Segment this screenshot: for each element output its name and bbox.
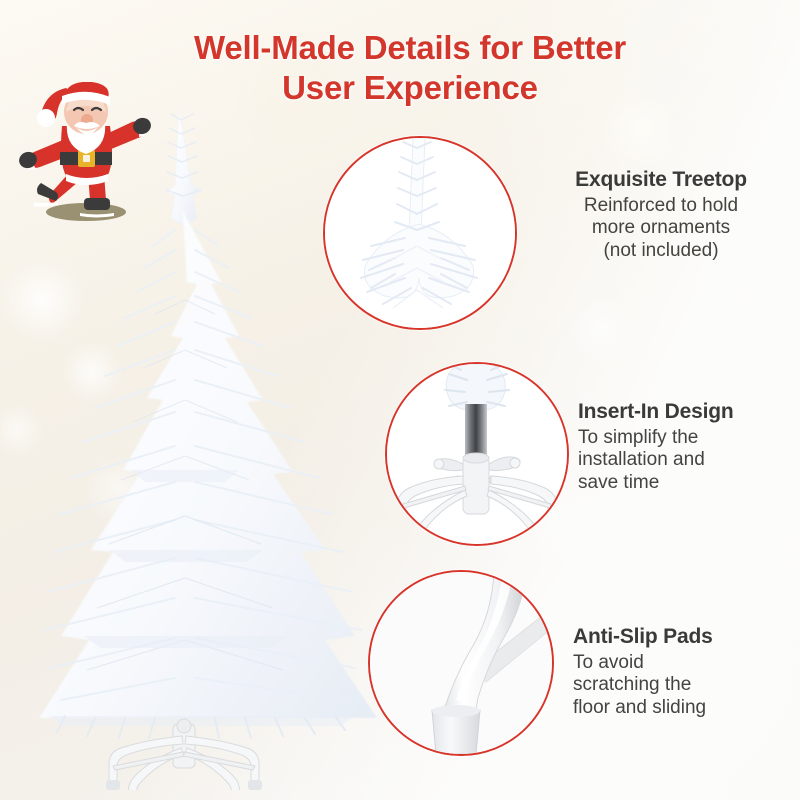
page-title-line-1: Well-Made Details for Better — [194, 29, 626, 66]
feature-circle-exquisite-treetop — [323, 136, 517, 330]
feature-circle-insert-in-design — [385, 362, 569, 546]
feature-body-3-line-3: floor and sliding — [573, 697, 800, 719]
feature-body-3-line-1: To avoid — [573, 652, 800, 674]
feature-callout-anti-slip-pads: Anti-Slip Pads To avoid scratching the f… — [573, 625, 800, 719]
feature-body-1-line-1: Reinforced to hold — [527, 195, 795, 217]
feature-title-1: Exquisite Treetop — [527, 168, 795, 192]
feature-callout-insert-in-design: Insert-In Design To simplify the install… — [578, 400, 800, 494]
feature-body-1-line-2: more ornaments — [527, 217, 795, 239]
feature-body-2-line-3: save time — [578, 472, 800, 494]
feature-body-2: To simplify the installation and save ti… — [578, 427, 800, 494]
feature-body-2-line-2: installation and — [578, 449, 800, 471]
feature-callout-exquisite-treetop: Exquisite Treetop Reinforced to hold mor… — [527, 168, 795, 262]
feature-body-2-line-1: To simplify the — [578, 427, 800, 449]
feature-title-2: Insert-In Design — [578, 400, 800, 424]
feature-body-1-line-3: (not included) — [527, 240, 795, 262]
feature-body-3-line-2: scratching the — [573, 674, 800, 696]
feature-title-3: Anti-Slip Pads — [573, 625, 800, 649]
feature-body-3: To avoid scratching the floor and slidin… — [573, 652, 800, 719]
page-title: Well-Made Details for Better User Experi… — [110, 28, 710, 107]
product-feature-poster: Well-Made Details for Better User Experi… — [0, 0, 800, 800]
feature-circle-anti-slip-pads — [368, 570, 554, 756]
feature-body-1: Reinforced to hold more ornaments (not i… — [527, 195, 795, 262]
